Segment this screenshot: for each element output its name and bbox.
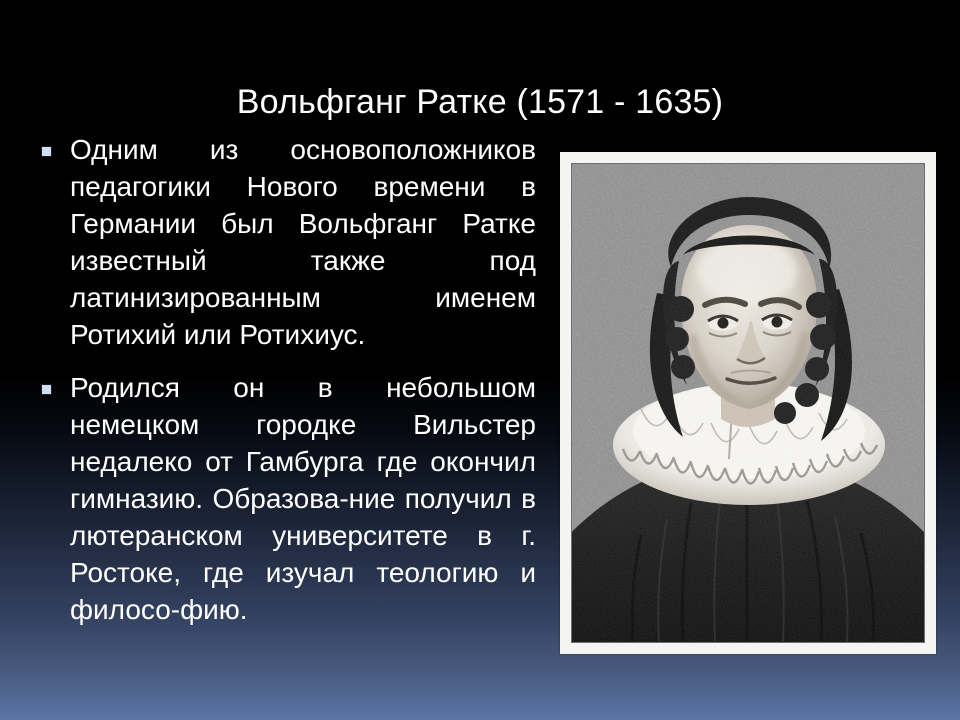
portrait-engraving-icon — [571, 163, 925, 643]
page-title: Вольфганг Ратке (1571 - 1635) — [237, 81, 723, 123]
square-bullet-icon — [42, 385, 51, 394]
portrait-image — [571, 163, 925, 643]
list-item-text: Родился он в небольшом немецком городке … — [70, 369, 536, 628]
list-item: Одним из основоположников педагогики Нов… — [36, 131, 536, 353]
list-item-text: Одним из основоположников педагогики Нов… — [70, 131, 536, 353]
content-text-column: Одним из основоположников педагогики Нов… — [36, 131, 536, 628]
square-bullet-icon — [42, 147, 51, 156]
portrait-frame — [560, 152, 936, 654]
presentation-slide: Вольфганг Ратке (1571 - 1635) Одним из о… — [0, 0, 960, 720]
list-item: Родился он в небольшом немецком городке … — [36, 369, 536, 628]
